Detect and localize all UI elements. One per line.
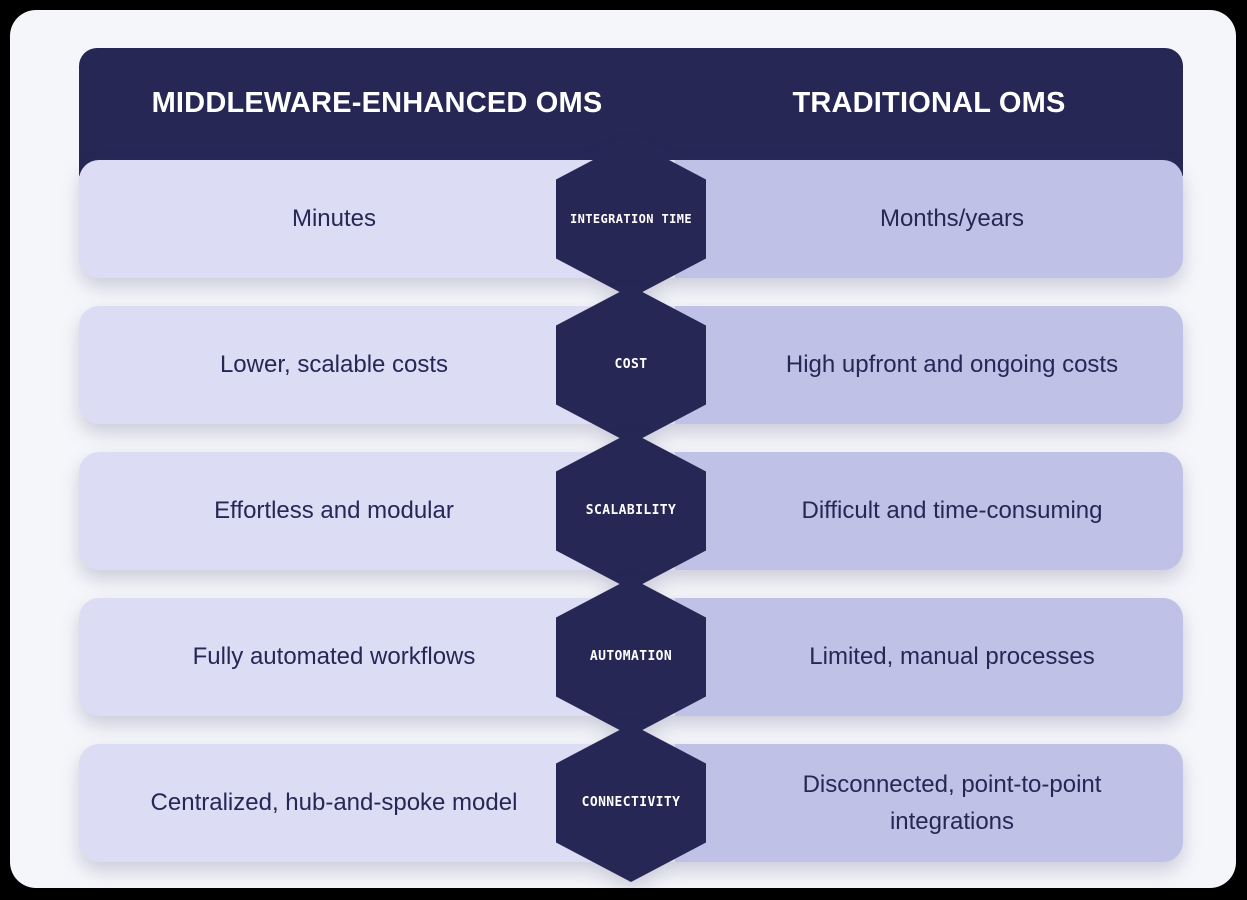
header-title-middleware: MIDDLEWARE-ENHANCED OMS xyxy=(152,85,603,122)
comparison-row: Centralized, hub-and-spoke model Disconn… xyxy=(79,744,1183,862)
row-cell-text: Difficult and time-consuming xyxy=(801,492,1102,529)
comparison-rows: Minutes Months/years INTEGRATION TIME Lo… xyxy=(79,160,1183,888)
comparison-row: Lower, scalable costs High upfront and o… xyxy=(79,306,1183,424)
row-cell-text: Minutes xyxy=(292,200,376,237)
row-cell-text: Centralized, hub-and-spoke model xyxy=(151,784,518,821)
row-cell-text: Fully automated workflows xyxy=(193,638,476,675)
header-column-traditional: TRADITIONAL OMS xyxy=(675,48,1183,176)
row-cell-traditional: High upfront and ongoing costs xyxy=(675,306,1183,424)
category-badge-label: CONNECTIVITY xyxy=(576,795,687,811)
row-cell-text: Lower, scalable costs xyxy=(220,346,448,383)
header-column-middleware: MIDDLEWARE-ENHANCED OMS xyxy=(79,48,675,176)
category-badge-label: SCALABILITY xyxy=(580,503,683,519)
row-cell-traditional: Difficult and time-consuming xyxy=(675,452,1183,570)
row-cell-traditional: Limited, manual processes xyxy=(675,598,1183,716)
row-cell-traditional: Months/years xyxy=(675,160,1183,278)
comparison-row: Fully automated workflows Limited, manua… xyxy=(79,598,1183,716)
row-cell-text: Disconnected, point-to-point integration… xyxy=(755,766,1149,840)
row-cell-text: Months/years xyxy=(880,200,1024,237)
category-badge-label: AUTOMATION xyxy=(584,649,678,665)
comparison-row: Minutes Months/years INTEGRATION TIME xyxy=(79,160,1183,278)
header-title-traditional: TRADITIONAL OMS xyxy=(792,85,1065,122)
row-cell-traditional: Disconnected, point-to-point integration… xyxy=(675,744,1183,862)
comparison-card: MIDDLEWARE-ENHANCED OMS TRADITIONAL OMS … xyxy=(10,10,1236,888)
row-cell-text: Effortless and modular xyxy=(214,492,454,529)
category-badge-label: INTEGRATION TIME xyxy=(564,212,698,227)
comparison-row: Effortless and modular Difficult and tim… xyxy=(79,452,1183,570)
row-cell-text: High upfront and ongoing costs xyxy=(786,346,1118,383)
row-cell-text: Limited, manual processes xyxy=(809,638,1094,675)
comparison-infographic: MIDDLEWARE-ENHANCED OMS TRADITIONAL OMS … xyxy=(0,0,1247,900)
category-badge-label: COST xyxy=(609,357,654,373)
